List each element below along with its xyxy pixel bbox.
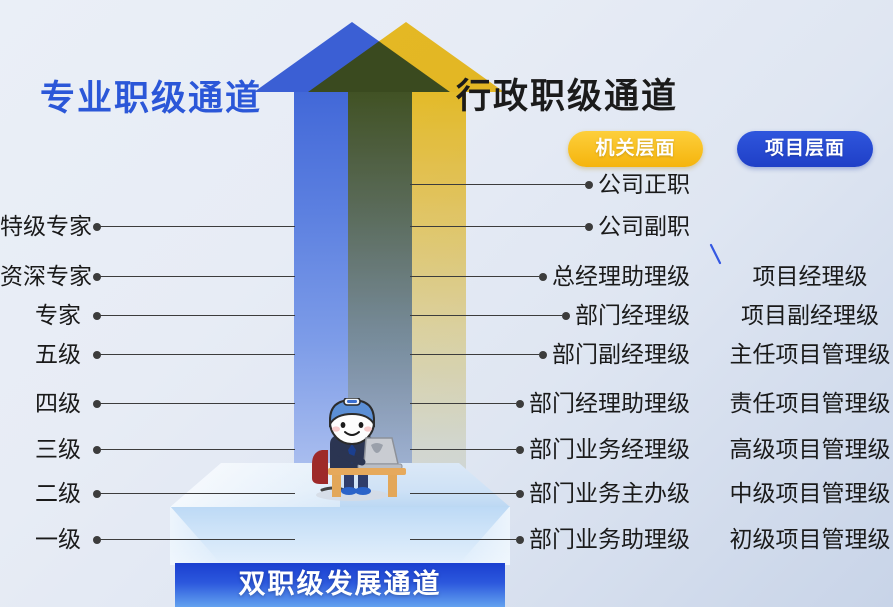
level-label-agency: 部门经理助理级	[529, 387, 690, 421]
connector-line	[100, 403, 295, 404]
table-row: 四级部门经理助理级责任项目管理级	[0, 387, 893, 421]
table-row: 资深专家总经理助理级项目经理级	[0, 260, 893, 294]
table-row: 一级部门业务助理级初级项目管理级	[0, 523, 893, 557]
level-label-professional: 二级	[0, 477, 81, 511]
level-label-project: 项目经理级	[753, 260, 868, 294]
connector-dot	[93, 490, 101, 498]
level-label-agency: 部门业务助理级	[529, 523, 690, 557]
connector-line	[410, 184, 585, 185]
page-title-professional-track: 专业职级通道	[40, 70, 262, 121]
table-row: 特级专家公司副职	[0, 210, 893, 244]
level-label-project: 责任项目管理级	[730, 387, 891, 421]
level-label-agency: 总经理助理级	[552, 260, 690, 294]
connector-line	[410, 539, 516, 540]
level-label-project: 中级项目管理级	[730, 477, 891, 511]
connector-dot	[93, 400, 101, 408]
level-label-professional: 特级专家	[0, 210, 81, 244]
connector-dot	[562, 312, 570, 320]
level-label-project: 初级项目管理级	[730, 523, 891, 557]
level-label-agency: 公司副职	[598, 210, 690, 244]
level-label-agency: 部门副经理级	[552, 338, 690, 372]
connector-dot	[516, 446, 524, 454]
connector-dot	[93, 273, 101, 281]
connector-line	[410, 226, 585, 227]
connector-dot	[539, 351, 547, 359]
connector-line	[100, 276, 295, 277]
connector-dot	[93, 312, 101, 320]
page-title-management-track: 行政职级通道	[456, 68, 678, 119]
connector-line	[410, 276, 539, 277]
badge-project-level[interactable]: 项目层面	[737, 131, 873, 167]
table-row: 公司正职	[0, 168, 893, 202]
connector-line	[100, 449, 295, 450]
level-label-project: 主任项目管理级	[730, 338, 891, 372]
connector-line	[410, 449, 516, 450]
badge-agency-level[interactable]: 机关层面	[568, 131, 703, 167]
connector-line	[100, 493, 295, 494]
connector-dot	[93, 223, 101, 231]
table-row: 二级部门业务主办级中级项目管理级	[0, 477, 893, 511]
level-label-professional: 五级	[0, 338, 81, 372]
connector-line	[410, 403, 516, 404]
level-label-professional: 资深专家	[0, 260, 81, 294]
level-label-agency: 公司正职	[598, 168, 690, 202]
level-label-agency: 部门经理级	[575, 299, 690, 333]
connector-dot	[93, 446, 101, 454]
connector-dot	[516, 536, 524, 544]
level-label-professional: 专家	[0, 299, 81, 333]
career-path-infographic: 专业职级通道 行政职级通道 机关层面 项目层面 公司正职特级专家公司副职资深专家…	[0, 0, 893, 607]
level-label-professional: 三级	[0, 433, 81, 467]
table-row: 五级部门副经理级主任项目管理级	[0, 338, 893, 372]
connector-dot	[585, 181, 593, 189]
table-row: 专家部门经理级项目副经理级	[0, 299, 893, 333]
connector-dot	[93, 351, 101, 359]
connector-line	[410, 493, 516, 494]
connector-dot	[516, 490, 524, 498]
connector-line	[100, 539, 295, 540]
connector-line	[100, 354, 295, 355]
connector-line	[100, 315, 295, 316]
connector-line	[100, 226, 295, 227]
level-label-professional: 一级	[0, 523, 81, 557]
connector-dot	[516, 400, 524, 408]
connector-dot	[93, 536, 101, 544]
level-label-professional: 四级	[0, 387, 81, 421]
level-label-agency: 部门业务经理级	[529, 433, 690, 467]
level-label-project: 高级项目管理级	[730, 433, 891, 467]
table-row: 三级部门业务经理级高级项目管理级	[0, 433, 893, 467]
level-label-agency: 部门业务主办级	[529, 477, 690, 511]
connector-line	[410, 354, 539, 355]
level-label-project: 项目副经理级	[741, 299, 879, 333]
connector-line	[410, 315, 562, 316]
connector-dot	[539, 273, 547, 281]
connector-dot	[585, 223, 593, 231]
banner-dual-track: 双职级发展通道	[175, 563, 505, 607]
